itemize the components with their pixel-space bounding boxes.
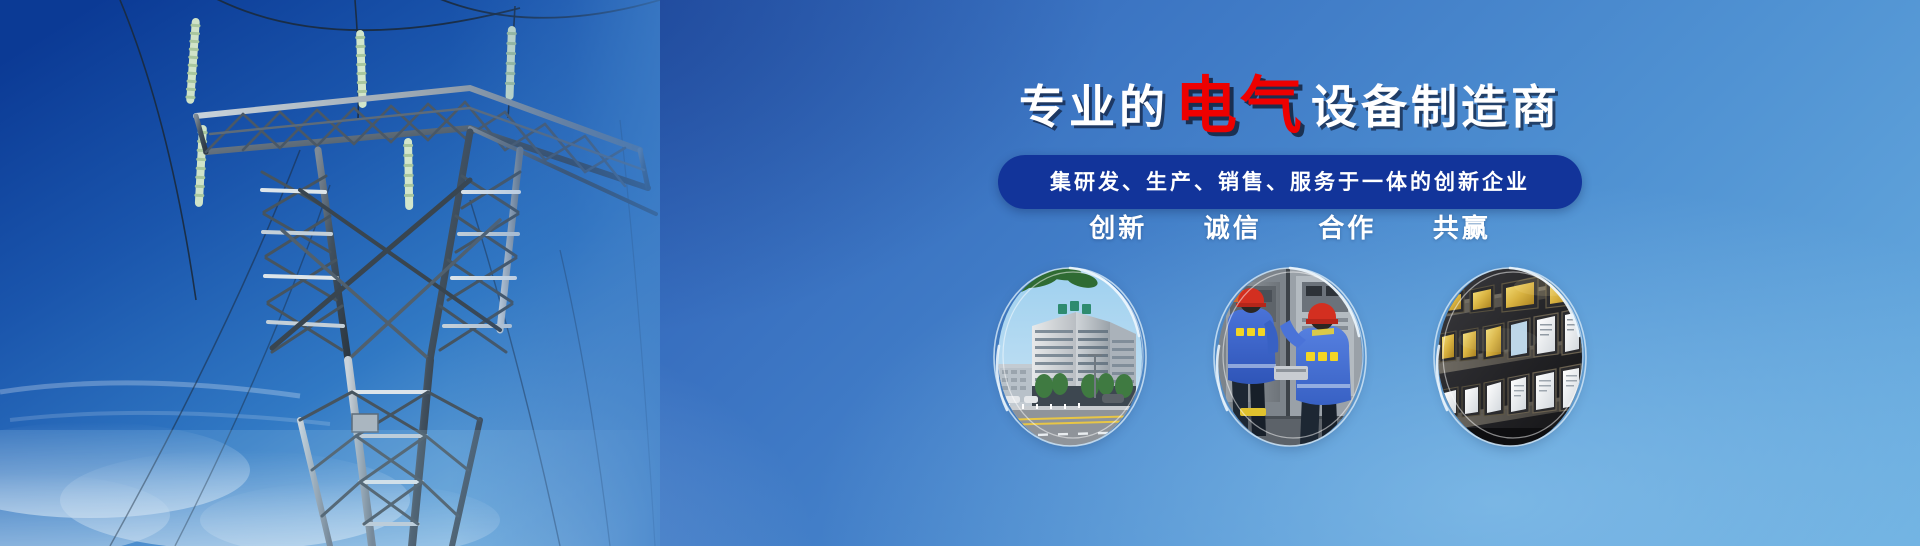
hero-banner: 专业的电气设备制造商 集研发、生产、销售、服务于一体的创新企业 创新 诚信 合作… bbox=[0, 0, 1920, 546]
technicians-photo bbox=[1207, 262, 1373, 452]
office-building-photo bbox=[987, 262, 1153, 452]
tagline-pill-wrapper: 集研发、生产、销售、服务于一体的创新企业 bbox=[660, 155, 1920, 209]
keyword-row: 创新 诚信 合作 共赢 bbox=[660, 208, 1920, 245]
certificates-wall-image bbox=[1438, 268, 1582, 446]
keyword-cooperation: 合作 bbox=[1318, 208, 1376, 245]
tagline-pill: 集研发、生产、销售、服务于一体的创新企业 bbox=[998, 155, 1582, 209]
keyword-innovation: 创新 bbox=[1089, 208, 1147, 245]
keyword-winwin: 共赢 bbox=[1433, 208, 1491, 245]
certificates-wall-photo bbox=[1427, 262, 1593, 452]
banner-content: 专业的电气设备制造商 集研发、生产、销售、服务于一体的创新企业 创新 诚信 合作… bbox=[660, 0, 1920, 546]
headline-emphasis: 电气 bbox=[1175, 72, 1305, 141]
headline-part-1: 专业的 bbox=[1019, 81, 1169, 133]
photo-circle-row bbox=[660, 262, 1920, 452]
transmission-tower-photo bbox=[0, 0, 660, 546]
technicians-image bbox=[1218, 268, 1362, 446]
tagline-text: 集研发、生产、销售、服务于一体的创新企业 bbox=[1050, 171, 1530, 194]
headline-part-2: 设备制造商 bbox=[1311, 81, 1561, 133]
keyword-integrity: 诚信 bbox=[1204, 208, 1262, 245]
page-title: 专业的电气设备制造商 bbox=[660, 72, 1920, 134]
office-building-image bbox=[998, 268, 1142, 446]
